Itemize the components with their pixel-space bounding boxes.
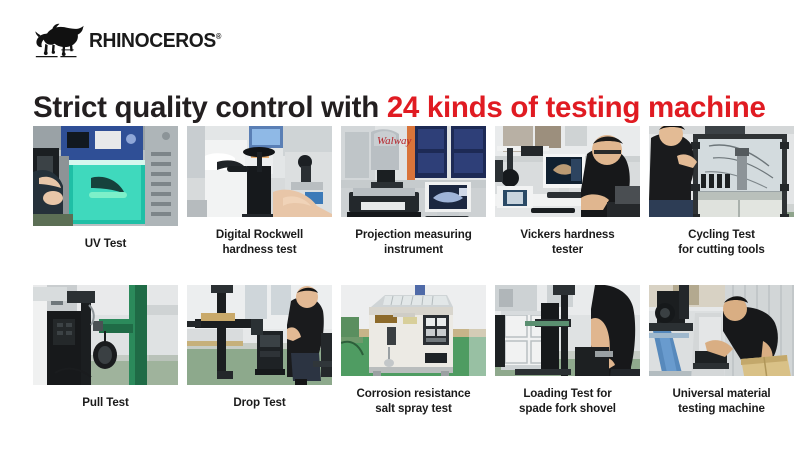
registered-mark: ® (216, 32, 221, 41)
caption-corrosion-resistance-salt-spray-test: Corrosion resistancesalt spray test (339, 387, 489, 417)
gallery-item-drop-test[interactable]: Drop Test (187, 285, 332, 417)
gallery-item-universal-material-testing-machine[interactable]: Universal materialtesting machine (649, 285, 794, 417)
gallery-item-digital-rockwell-hardness-test[interactable]: Digital Rockwellhardness test (187, 126, 332, 258)
caption-drop-test: Drop Test (185, 396, 335, 411)
thumbnail-cycling-test-for-cutting-tools[interactable] (649, 126, 794, 217)
caption-pull-test: Pull Test (31, 396, 181, 411)
thumbnail-universal-material-testing-machine[interactable] (649, 285, 794, 376)
thumbnail-projection-measuring-instrument[interactable]: Walway (341, 126, 486, 217)
caption-uv-test: UV Test (31, 237, 181, 252)
brand-wordmark: RHINOCEROS® (89, 31, 221, 52)
gallery-item-cycling-test-for-cutting-tools[interactable]: Cycling Testfor cutting tools (649, 126, 794, 258)
gallery-item-pull-test[interactable]: Pull Test (33, 285, 178, 417)
brand-name: RHINOCEROS (89, 29, 216, 52)
page-title-accent: 24 kinds of testing machine (387, 91, 766, 124)
rhinoceros-logo-icon (33, 19, 85, 59)
testing-machine-gallery: UV Test (33, 126, 773, 417)
brand-logo: RHINOCEROS® (33, 18, 253, 60)
caption-loading-test-for-spade-fork-shovel: Loading Test forspade fork shovel (493, 387, 643, 417)
caption-projection-measuring-instrument: Projection measuringinstrument (339, 228, 489, 258)
thumbnail-digital-rockwell-hardness-test[interactable] (187, 126, 332, 217)
gallery-item-projection-measuring-instrument[interactable]: Walway Projection measuringinst (341, 126, 486, 258)
gallery-item-corrosion-resistance-salt-spray-test[interactable]: Corrosion resistancesalt spray test (341, 285, 486, 417)
thumbnail-uv-test[interactable] (33, 126, 178, 226)
svg-text:Walway: Walway (377, 135, 412, 147)
gallery-item-uv-test[interactable]: UV Test (33, 126, 178, 258)
page-title-lead: Strict quality control with (33, 91, 387, 124)
thumbnail-vickers-hardness-tester[interactable] (495, 126, 640, 217)
caption-digital-rockwell-hardness-test: Digital Rockwellhardness test (185, 228, 335, 258)
page-title: Strict quality control with 24 kinds of … (33, 92, 778, 124)
gallery-item-vickers-hardness-tester[interactable]: Vickers hardnesstester (495, 126, 640, 258)
thumbnail-corrosion-resistance-salt-spray-test[interactable] (341, 285, 486, 376)
thumbnail-drop-test[interactable] (187, 285, 332, 385)
caption-vickers-hardness-tester: Vickers hardnesstester (493, 228, 643, 258)
gallery-item-loading-test-for-spade-fork-shovel[interactable]: Loading Test forspade fork shovel (495, 285, 640, 417)
thumbnail-loading-test-for-spade-fork-shovel[interactable] (495, 285, 640, 376)
caption-universal-material-testing-machine: Universal materialtesting machine (647, 387, 797, 417)
thumbnail-pull-test[interactable] (33, 285, 178, 385)
caption-cycling-test-for-cutting-tools: Cycling Testfor cutting tools (647, 228, 797, 258)
